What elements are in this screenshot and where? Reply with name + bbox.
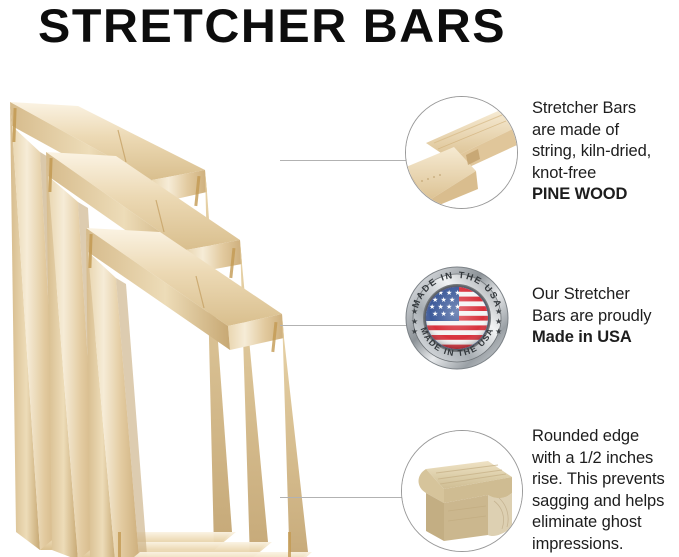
feature-line: sagging and helps bbox=[532, 492, 664, 510]
feature-text-made-in-usa: Our Stretcher Bars are proudly Made in U… bbox=[532, 284, 679, 349]
svg-text:★: ★ bbox=[495, 317, 502, 326]
svg-text:★: ★ bbox=[411, 307, 418, 316]
feature-rounded-edge: Rounded edge with a 1/2 inches rise. Thi… bbox=[280, 424, 679, 557]
made-in-the-usa-badge: ★ ★ ★ ★ ★ ★ ★ ★ ★ ★ ★ ★ ★ ★ MADE IN THE … bbox=[405, 266, 509, 370]
svg-text:★: ★ bbox=[411, 317, 418, 326]
feature-line: Stretcher Bars bbox=[532, 99, 636, 117]
feature-line: rise. This prevents bbox=[532, 470, 665, 488]
feature-text-pine-wood: Stretcher Bars are made of string, kiln-… bbox=[532, 98, 679, 206]
feature-line: are made of bbox=[532, 121, 619, 139]
stretcher-frame-medium bbox=[46, 152, 272, 557]
page-title: STRETCHER BARS bbox=[38, 1, 656, 51]
feature-emphasis: PINE WOOD bbox=[532, 185, 627, 203]
feature-made-in-usa: ★ ★ ★ ★ ★ ★ ★ ★ ★ ★ ★ ★ ★ ★ MADE IN THE … bbox=[280, 262, 679, 378]
feature-line: Rounded edge bbox=[532, 427, 639, 445]
feature-line: knot-free bbox=[532, 164, 596, 182]
feature-line: with a 1/2 inches bbox=[532, 449, 653, 467]
feature-emphasis: Made in USA bbox=[532, 328, 632, 346]
wood-corner-joint-photo bbox=[405, 96, 518, 209]
leader-line bbox=[280, 497, 411, 498]
rounded-edge-bar-profile-photo bbox=[401, 430, 523, 552]
feature-line: impressions. bbox=[532, 535, 623, 553]
svg-text:★: ★ bbox=[495, 307, 502, 316]
svg-text:★: ★ bbox=[495, 327, 502, 336]
feature-text-rounded-edge: Rounded edge with a 1/2 inches rise. Thi… bbox=[532, 426, 679, 556]
feature-line: eliminate ghost bbox=[532, 513, 641, 531]
feature-pine-wood: Stretcher Bars are made of string, kiln-… bbox=[280, 88, 679, 216]
feature-line: Our Stretcher bbox=[532, 285, 630, 303]
svg-text:★: ★ bbox=[411, 327, 418, 336]
leader-line bbox=[280, 325, 416, 326]
feature-line: string, kiln-dried, bbox=[532, 142, 651, 160]
stretcher-frame-small bbox=[86, 228, 312, 557]
leader-line bbox=[280, 160, 414, 161]
feature-line: Bars are proudly bbox=[532, 307, 651, 325]
